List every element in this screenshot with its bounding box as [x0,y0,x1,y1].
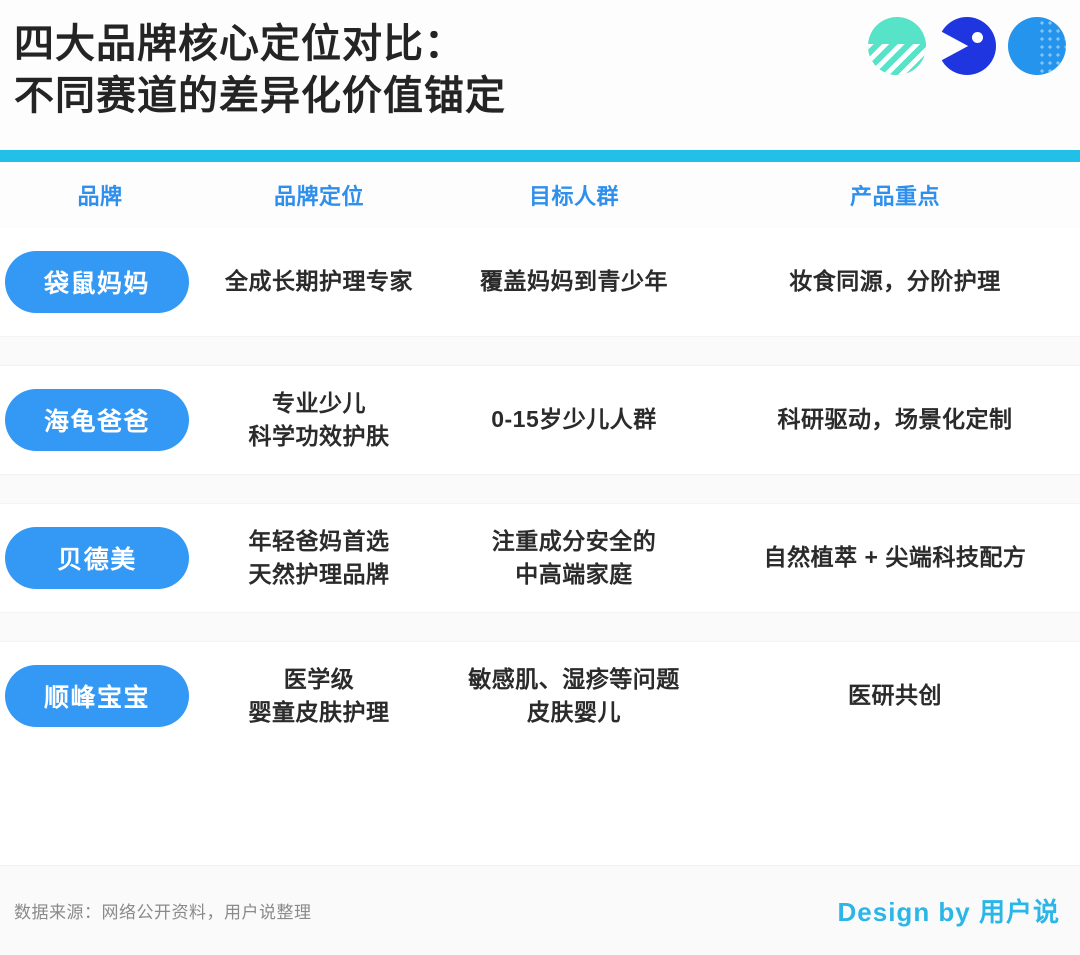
pacman-eye-icon [972,32,983,43]
position-cell: 医学级 婴童皮肤护理 [200,663,438,730]
row-divider [0,612,1080,642]
column-header-audience: 目标人群 [438,179,710,211]
brand-pill: 顺峰宝宝 [5,665,189,727]
product-cell: 妆食同源，分阶护理 [710,265,1080,298]
audience-cell: 敏感肌、湿疹等问题 皮肤婴儿 [438,663,710,730]
brand-cell: 贝德美 [0,527,200,589]
brand-pill: 袋鼠妈妈 [5,251,189,313]
accent-bar [0,150,1080,162]
title-line-1: 四大品牌核心定位对比： [14,18,834,70]
brand-pill: 贝德美 [5,527,189,589]
header: 四大品牌核心定位对比： 不同赛道的差异化价值锚定 [0,0,1080,150]
audience-cell: 覆盖妈妈到青少年 [438,265,710,298]
row-divider [0,474,1080,504]
table-row: 海龟爸爸 专业少儿 科学功效护肤 0-15岁少儿人群 科研驱动，场景化定制 [0,366,1080,474]
logo-group [868,17,1066,75]
data-source-label: 数据来源：网络公开资料，用户说整理 [14,898,312,923]
table-row: 顺峰宝宝 医学级 婴童皮肤护理 敏感肌、湿疹等问题 皮肤婴儿 医研共创 [0,642,1080,750]
comparison-table: 品牌 品牌定位 目标人群 产品重点 袋鼠妈妈 全成长期护理专家 覆盖妈妈到青少年… [0,162,1080,750]
position-cell: 年轻爸妈首选 天然护理品牌 [200,525,438,592]
title-line-2: 不同赛道的差异化价值锚定 [14,70,834,122]
row-divider [0,336,1080,366]
column-header-product: 产品重点 [710,179,1080,211]
column-header-position: 品牌定位 [200,179,438,211]
position-cell: 专业少儿 科学功效护肤 [200,387,438,454]
page-title: 四大品牌核心定位对比： 不同赛道的差异化价值锚定 [14,18,834,122]
table-header-row: 品牌 品牌定位 目标人群 产品重点 [0,162,1080,228]
infographic-page: 四大品牌核心定位对比： 不同赛道的差异化价值锚定 品牌 品牌定位 目标人群 产品… [0,0,1080,955]
table-row: 袋鼠妈妈 全成长期护理专家 覆盖妈妈到青少年 妆食同源，分阶护理 [0,228,1080,336]
mint-striped-circle-icon [868,17,926,75]
pacman-body-icon [938,17,996,75]
blue-pacman-circle-icon [938,17,996,75]
brand-cell: 海龟爸爸 [0,389,200,451]
brand-pill: 海龟爸爸 [5,389,189,451]
position-cell: 全成长期护理专家 [200,265,438,298]
product-cell: 自然植萃 + 尖端科技配方 [710,541,1080,574]
blue-dotted-circle-icon [1008,17,1066,75]
table-row: 贝德美 年轻爸妈首选 天然护理品牌 注重成分安全的 中高端家庭 自然植萃 + 尖… [0,504,1080,612]
column-header-brand: 品牌 [0,179,200,211]
product-cell: 科研驱动，场景化定制 [710,403,1080,436]
brand-cell: 顺峰宝宝 [0,665,200,727]
design-credit: Design by 用户说 [838,892,1060,929]
footer: 数据来源：网络公开资料，用户说整理 Design by 用户说 [0,865,1080,955]
product-cell: 医研共创 [710,679,1080,712]
audience-cell: 0-15岁少儿人群 [438,403,710,436]
audience-cell: 注重成分安全的 中高端家庭 [438,525,710,592]
brand-cell: 袋鼠妈妈 [0,251,200,313]
